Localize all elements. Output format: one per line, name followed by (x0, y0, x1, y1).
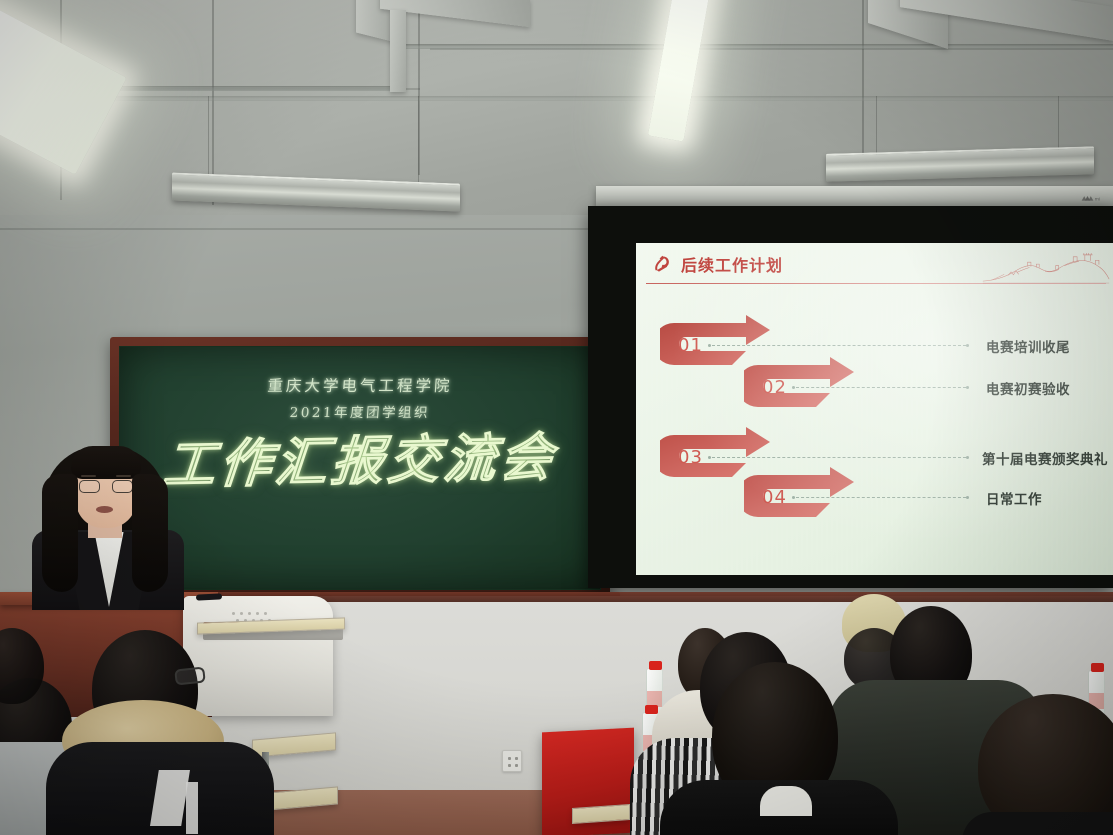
plan-row-4: 04 日常工作 (744, 465, 1113, 527)
bottle-cap (649, 661, 662, 670)
audience-body (962, 812, 1113, 835)
light-hanger (876, 96, 877, 158)
plan-label-1: 电赛培训收尾 (986, 336, 1070, 356)
presenter-brow-right (116, 475, 131, 477)
leader-dot (792, 496, 795, 499)
slide-header: 后续工作计划 (650, 252, 783, 276)
blackboard-line-3: 工作汇报交流会 (119, 414, 601, 499)
plan-number-3: 03 (678, 447, 703, 468)
leader-dot (792, 386, 795, 389)
leader-dot (708, 344, 711, 347)
light-hanger (418, 96, 419, 184)
great-wall-line-art (981, 251, 1111, 285)
light-hanger (208, 96, 209, 184)
wall-seam (862, 0, 864, 160)
bottle-cap (645, 705, 658, 714)
presenter-hair-left (42, 474, 78, 592)
plan-label-2: 电赛初赛验收 (986, 378, 1070, 398)
bottle-cap (1091, 663, 1104, 672)
leader-line (796, 387, 966, 388)
presenter-hair-right (132, 474, 168, 592)
leader-line (796, 497, 966, 498)
presenter (28, 440, 188, 605)
projected-slide[interactable]: 后续工作计划 (636, 243, 1113, 575)
blackboard-surface: 重庆大学电气工程学院 2021年度团学组织 工作汇报交流会 (119, 346, 601, 590)
ceiling-beam (0, 96, 1113, 101)
slide-title: 后续工作计划 (681, 252, 783, 276)
duct-riser (390, 10, 406, 92)
mitsubishi-logo: mi (1081, 192, 1107, 204)
communist-party-emblem-icon (650, 253, 672, 275)
presenter-mouth (96, 506, 113, 513)
svg-text:mi: mi (1095, 196, 1101, 202)
leader-dot (966, 496, 969, 499)
collar (760, 786, 812, 816)
jacket-stripe (186, 782, 198, 834)
blackboard-line-1: 重庆大学电气工程学院 (119, 374, 601, 396)
plan-number-2: 02 (762, 377, 787, 398)
ceiling-beam (398, 44, 1113, 49)
leader-line (712, 457, 966, 458)
leader-dot (966, 456, 969, 459)
classroom-scene: 重庆大学电气工程学院 2021年度团学组织 工作汇报交流会 mi (0, 0, 1113, 835)
presenter-brow-left (81, 475, 96, 477)
plan-row-2: 02 电赛初赛验收 (744, 355, 1113, 417)
leader-dot (966, 386, 969, 389)
plan-number-1: 01 (678, 335, 703, 356)
eyeglasses-icon (112, 480, 133, 493)
leader-dot (966, 344, 969, 347)
eyeglasses-icon (79, 480, 100, 493)
eyeglasses-icon (174, 666, 206, 685)
plan-number-4: 04 (762, 487, 787, 508)
leader-line (712, 345, 966, 346)
wall-outlet (502, 750, 522, 772)
leader-dot (708, 456, 711, 459)
plan-label-4: 日常工作 (986, 488, 1042, 508)
